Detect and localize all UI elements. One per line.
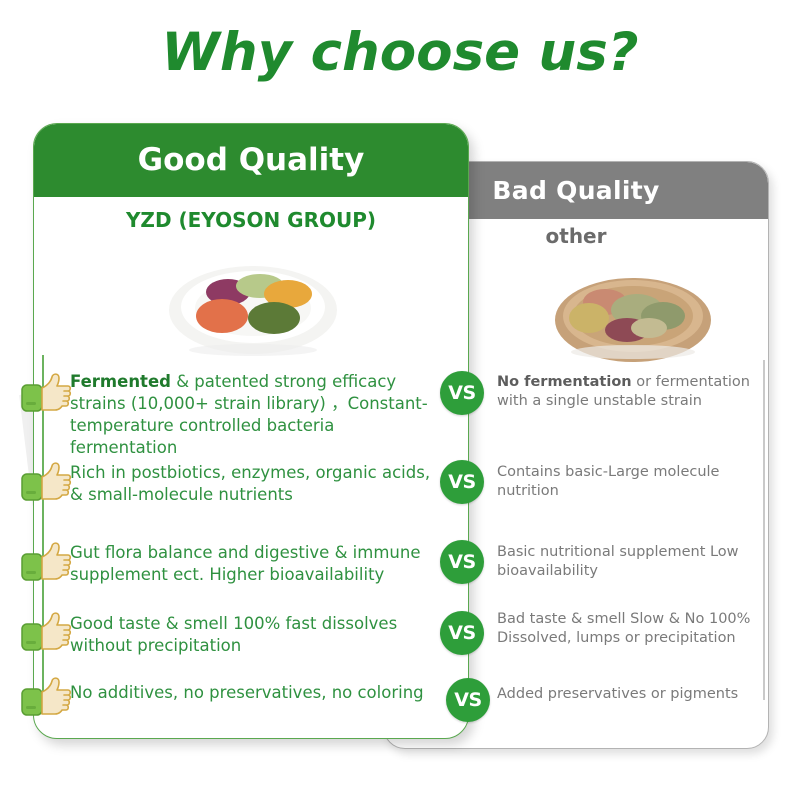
bad-product-image bbox=[543, 258, 723, 366]
good-quality-header: Good Quality bbox=[34, 124, 468, 197]
bad-row-3-rest: Basic nutritional supplement Low bioavai… bbox=[497, 544, 739, 579]
bad-row-5-text: Added preservatives or pigments bbox=[497, 685, 752, 704]
good-row-1-bold: Fermented bbox=[70, 372, 171, 391]
vs-badge-2: VS bbox=[440, 460, 484, 504]
good-row-1-text: Fermented & patented strong efficacy str… bbox=[70, 371, 438, 459]
thumbs-up-icon bbox=[20, 372, 72, 420]
bad-row-4-rest: Bad taste & smell Slow & No 100% Dissolv… bbox=[497, 611, 750, 646]
vs-badge-3: VS bbox=[440, 540, 484, 584]
bad-row-4-text: Bad taste & smell Slow & No 100% Dissolv… bbox=[497, 610, 752, 649]
bad-row-2-text: Contains basic-Large molecule nutrition bbox=[497, 463, 752, 502]
good-row-3-rest: Gut flora balance and digestive & immune… bbox=[70, 543, 420, 584]
thumbs-up-icon bbox=[20, 541, 72, 589]
vs-badge-4: VS bbox=[440, 611, 484, 655]
infographic-canvas: EYOSON Why choose us? Bad Quality other … bbox=[0, 0, 800, 800]
bad-row-5-rest: Added preservatives or pigments bbox=[497, 686, 738, 702]
good-row-5-rest: No additives, no preservatives, no color… bbox=[70, 683, 424, 702]
bad-row-2-rest: Contains basic-Large molecule nutrition bbox=[497, 464, 719, 499]
good-row-4-text: Good taste & smell 100% fast dissolves w… bbox=[70, 613, 438, 657]
thumbs-up-icon bbox=[20, 611, 72, 659]
vs-badge-5: VS bbox=[446, 678, 490, 722]
good-row-2-text: Rich in postbiotics, enzymes, organic ac… bbox=[70, 462, 438, 506]
good-row-3-text: Gut flora balance and digestive & immune… bbox=[70, 542, 438, 586]
bad-connector-line bbox=[763, 360, 765, 700]
page-title: Why choose us? bbox=[0, 22, 800, 83]
good-product-image bbox=[160, 250, 346, 362]
good-quality-brand: YZD (EYOSON GROUP) bbox=[34, 208, 468, 232]
thumbs-up-icon bbox=[20, 461, 72, 509]
good-row-2-rest: Rich in postbiotics, enzymes, organic ac… bbox=[70, 463, 430, 504]
thumbs-up-icon bbox=[20, 676, 72, 724]
bad-row-3-text: Basic nutritional supplement Low bioavai… bbox=[497, 543, 752, 582]
good-row-4-rest: Good taste & smell 100% fast dissolves w… bbox=[70, 614, 397, 655]
vs-badge-1: VS bbox=[440, 371, 484, 415]
bad-row-1-text: No fermentation or fermentation with a s… bbox=[497, 373, 763, 412]
good-row-5-text: No additives, no preservatives, no color… bbox=[70, 682, 442, 704]
bad-row-1-bold: No fermentation bbox=[497, 374, 632, 390]
